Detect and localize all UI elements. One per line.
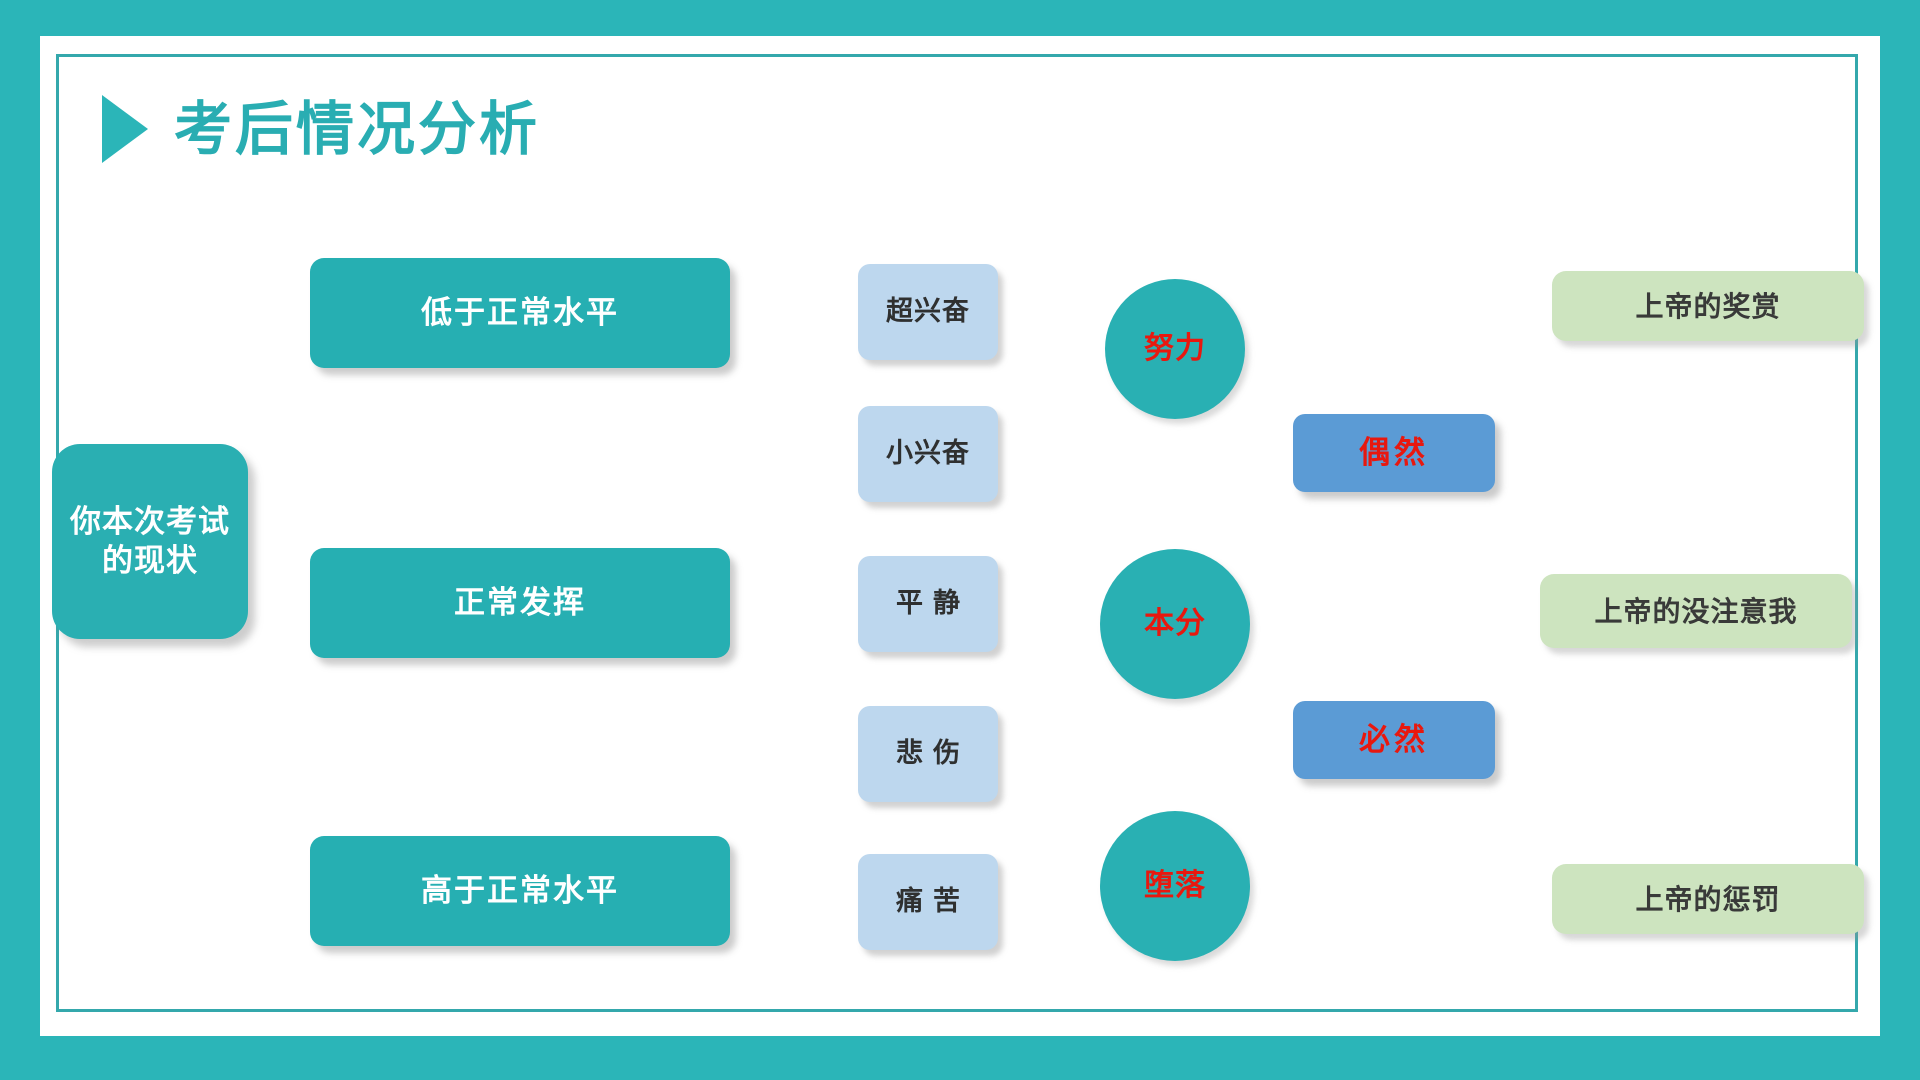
emotion-node-calm[interactable]: 平静: [858, 556, 998, 652]
page-title-text: 考后情况分析: [174, 100, 540, 158]
triangle-right-icon: [102, 95, 148, 163]
outcome-node-gods-punishment[interactable]: 上帝的惩罚: [1552, 864, 1864, 934]
root-node-current-status[interactable]: 你本次考试的现状: [52, 444, 248, 639]
outcome-node-god-didnt-notice-me[interactable]: 上帝的没注意我: [1540, 574, 1852, 648]
level-node-normal[interactable]: 正常发挥: [310, 548, 730, 658]
level-node-below-normal[interactable]: 低于正常水平: [310, 258, 730, 368]
emotion-node-sad[interactable]: 悲伤: [858, 706, 998, 802]
page-title: 考后情况分析: [100, 84, 540, 174]
emotion-node-slightly-excited[interactable]: 小兴奋: [858, 406, 998, 502]
slide-frame: 考后情况分析 你本次考试的现状 低于正常水平 正常发挥 高于正常水平 超兴奋 小…: [0, 0, 1920, 1080]
attitude-node-duty[interactable]: 本分: [1100, 549, 1250, 699]
attitude-node-effort[interactable]: 努力: [1105, 279, 1245, 419]
cause-node-inevitable[interactable]: 必然: [1293, 701, 1495, 779]
attitude-node-degenerate[interactable]: 堕落: [1100, 811, 1250, 961]
outcome-node-gods-reward[interactable]: 上帝的奖赏: [1552, 271, 1864, 341]
slide-canvas: 考后情况分析 你本次考试的现状 低于正常水平 正常发挥 高于正常水平 超兴奋 小…: [40, 36, 1880, 1036]
level-node-above-normal[interactable]: 高于正常水平: [310, 836, 730, 946]
cause-node-accidental[interactable]: 偶然: [1293, 414, 1495, 492]
emotion-node-painful[interactable]: 痛苦: [858, 854, 998, 950]
emotion-node-super-excited[interactable]: 超兴奋: [858, 264, 998, 360]
